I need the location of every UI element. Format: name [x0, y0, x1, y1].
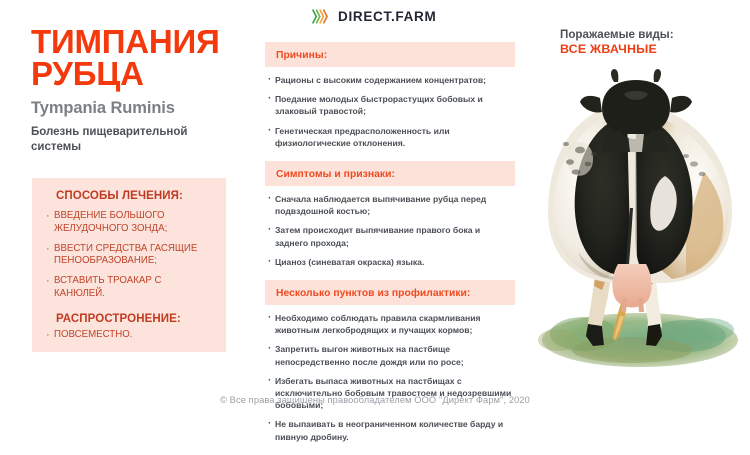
- affected-species: Поражаемые виды: ВСЕ ЖВАЧНЫЕ: [560, 28, 745, 58]
- section-header-prevention: Несколько пунктов из профилактики:: [265, 280, 515, 305]
- list-item: Цианоз (синеватая окраска) языка.: [268, 256, 515, 268]
- treatment-box: СПОСОБЫ ЛЕЧЕНИЯ: ВВЕДЕНИЕ БОЛЬШОГО ЖЕЛУД…: [32, 178, 226, 352]
- infographic-page: DIRECT.FARM ТИМПАНИЯ РУБЦА Tympania Rumi…: [0, 0, 750, 413]
- symptoms-list: Сначала наблюдается выпячивание рубца пе…: [265, 193, 515, 268]
- list-item: Не выпаивать в неограниченном количестве…: [268, 418, 515, 442]
- section-header-label: Несколько пунктов из профилактики:: [276, 288, 470, 299]
- affected-species-label: Поражаемые виды:: [560, 28, 745, 42]
- list-item: ПОВСЕМЕСТНО.: [46, 329, 213, 342]
- section-header-causes: Причины:: [265, 42, 515, 67]
- list-item: Затем происходит выпячивание правого бок…: [268, 224, 515, 248]
- prevention-list: Необходимо соблюдать правила скармливани…: [265, 312, 515, 443]
- list-item: Сначала наблюдается выпячивание рубца пе…: [268, 193, 515, 217]
- grass-patch: [538, 313, 738, 367]
- list-item: ВВЕДЕНИЕ БОЛЬШОГО ЖЕЛУДОЧНОГО ЗОНДА;: [46, 210, 213, 236]
- brand-logo: DIRECT.FARM: [312, 9, 436, 24]
- chevron-stripes-logo-icon: [312, 9, 331, 24]
- footer: © Все права защищены правообладателем ОО…: [0, 390, 750, 408]
- list-item: Запретить выгон животных на пастбище неп…: [268, 343, 515, 367]
- list-item: Рационы с высоким содержанием концентрат…: [268, 74, 515, 86]
- affected-species-value: ВСЕ ЖВАЧНЫЕ: [560, 42, 745, 58]
- brand-name: DIRECT.FARM: [338, 10, 436, 24]
- copyright-text: © Все права защищены правообладателем ОО…: [220, 395, 530, 405]
- page-subtitle: Болезнь пищеварительной системы: [31, 125, 236, 154]
- treatment-heading: СПОСОБЫ ЛЕЧЕНИЯ:: [56, 190, 213, 202]
- spread-heading: РАСПРОСТРОНЕНИЕ:: [56, 313, 213, 325]
- section-header-label: Причины:: [276, 50, 327, 61]
- list-item: Генетическая предрасположенность или физ…: [268, 125, 515, 149]
- spread-list: ПОВСЕМЕСТНО.: [46, 329, 213, 342]
- title-block: ТИМПАНИЯ РУБЦА Tympania Ruminis Болезнь …: [31, 26, 266, 154]
- causes-list: Рационы с высоким содержанием концентрат…: [265, 74, 515, 149]
- treatment-list: ВВЕДЕНИЕ БОЛЬШОГО ЖЕЛУДОЧНОГО ЗОНДА; ВВЕ…: [46, 210, 213, 301]
- latin-name: Tympania Ruminis: [31, 99, 266, 117]
- list-item: Поедание молодых быстрорастущих бобовых …: [268, 93, 515, 117]
- section-header-symptoms: Симптомы и признаки:: [265, 161, 515, 186]
- list-item: Необходимо соблюдать правила скармливани…: [268, 312, 515, 336]
- cow-rear-view-watercolor-illustration: [536, 68, 750, 380]
- page-title: ТИМПАНИЯ РУБЦА: [31, 26, 266, 90]
- list-item: ВСТАВИТЬ ТРОАКАР С КАНЮЛЕЙ.: [46, 275, 213, 301]
- list-item: ВВЕСТИ СРЕДСТВА ГАСЯЩИЕ ПЕНООБРАЗОВАНИЕ;: [46, 243, 213, 269]
- section-header-label: Симптомы и признаки:: [276, 169, 395, 180]
